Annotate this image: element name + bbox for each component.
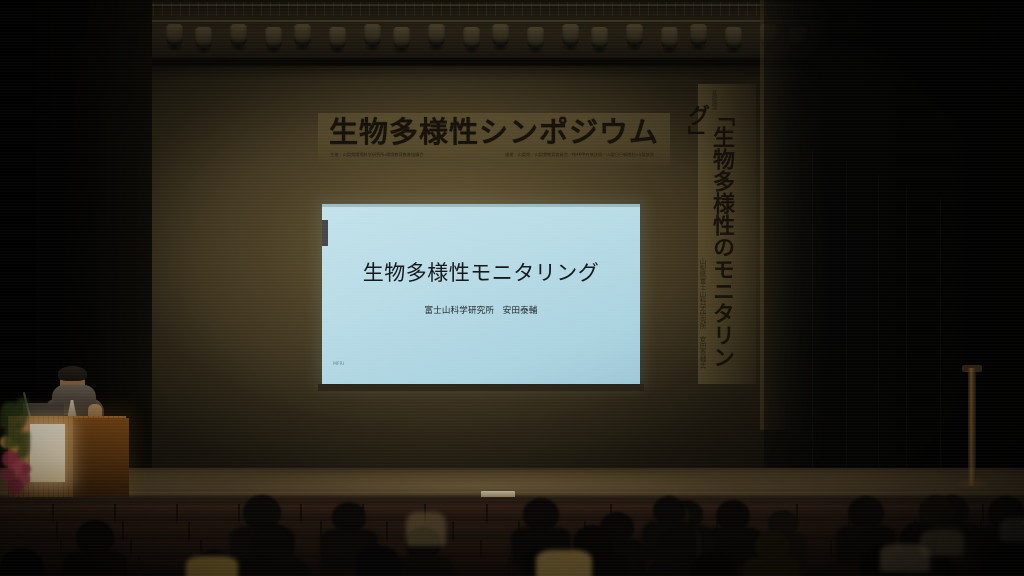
screen-bottom-border (318, 384, 644, 391)
audience-light-clothing (1000, 518, 1024, 542)
audience-torso (743, 557, 800, 576)
stage-light-fixture (195, 27, 212, 49)
stage-light-fixture (364, 24, 381, 46)
flower-leaf (18, 432, 30, 458)
drape-seam (846, 162, 847, 478)
audience-head (755, 530, 789, 560)
stage-banner-subtitle-right: 後援：山梨県／山梨県教育委員会／NHK甲府放送局／山梨日日新聞社・山梨放送 (492, 152, 667, 158)
stage-light-fixture (166, 24, 183, 46)
slide-title: 生物多様性モニタリング (322, 260, 640, 286)
stage-light-fixture (265, 27, 282, 49)
seat-divider (138, 558, 140, 576)
stage-light-fixture (294, 24, 311, 46)
slide-top-edge (322, 204, 640, 207)
stage-light-fixture (690, 24, 707, 46)
slide-footnote-logo: MFRI (333, 362, 344, 368)
stage-light-fixture (463, 27, 480, 49)
stage-masking-leg-right (764, 0, 1024, 480)
audience-torso (393, 556, 453, 576)
audience-head (523, 498, 559, 530)
slide-byline: 富士山科学研究所 安田泰輔 (322, 305, 640, 317)
stage-light-fixture (562, 24, 579, 46)
flower-bloom (21, 464, 31, 474)
audience-head (653, 496, 685, 524)
audience-torso (63, 551, 127, 576)
drape-seam (906, 186, 907, 474)
audience-head (76, 520, 114, 554)
projected-slide: 生物多様性モニタリング 富士山科学研究所 安田泰輔 MFRI (322, 204, 640, 384)
drape-seam (812, 150, 813, 480)
stage-light-fixture (661, 27, 678, 49)
audience-head (332, 502, 366, 532)
podium-side-panel (73, 418, 129, 500)
seat-divider (508, 558, 510, 576)
stage-banner-subtitle-left: 主催：山梨県環境科学研究所・環境教育推進協議会 (330, 152, 424, 158)
audience-light-clothing (920, 530, 964, 556)
stage-banner-title: 生物多様性シンポジウム (320, 115, 668, 149)
audience-head (716, 500, 750, 530)
vertical-banner-credit: 山梨県富士山科学研究所 安田泰輔氏 (692, 258, 706, 378)
stage-light-fixture (725, 27, 742, 49)
drape-seam (878, 174, 879, 476)
stage-pole-base (958, 480, 986, 488)
audience-head (848, 496, 884, 528)
stage-light-fixture (428, 24, 445, 46)
audience-torso (238, 557, 309, 576)
stage-light-fixture (626, 24, 643, 46)
podium-lectern-light (30, 424, 65, 482)
audience-head (252, 524, 294, 560)
vertical-banner-title: 「生物多様性のモニタリング」 (706, 104, 734, 376)
audience-light-clothing (186, 556, 238, 576)
stage-light-fixture (591, 27, 608, 49)
stage-light-fixture (492, 24, 509, 46)
flower-bloom (7, 478, 23, 494)
audience-light-clothing (406, 512, 446, 546)
audience-head (660, 530, 696, 562)
stage-pole (968, 368, 976, 486)
slide-left-tab (322, 220, 328, 246)
stage-light-fixture (230, 24, 247, 46)
stage-light-fixture (393, 27, 410, 49)
flower-arrangement (0, 398, 30, 490)
audience-light-clothing (536, 550, 592, 576)
stage-light-fixture (329, 27, 346, 49)
drape-seam (940, 198, 941, 472)
speaker-hair (58, 366, 87, 381)
stage-light-fixture (527, 27, 544, 49)
lecture-hall-photo: 生物多様性シンポジウム 主催：山梨県環境科学研究所・環境教育推進協議会 後援：山… (0, 0, 1024, 576)
